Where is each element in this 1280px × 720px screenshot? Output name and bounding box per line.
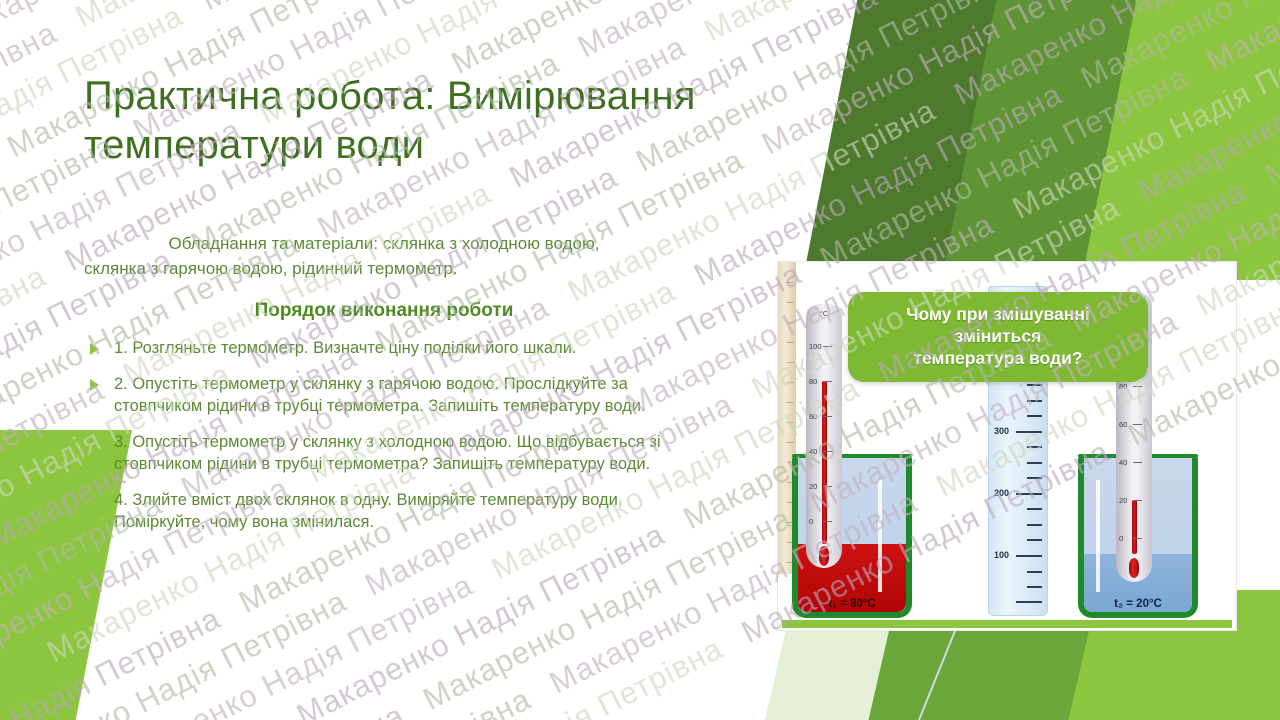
callout-text: Чому при змішуванні зміниться температур… (906, 304, 1090, 369)
illustration-floor-band (782, 620, 1232, 628)
watermark-text: Макаренко Надія Петрівна (1259, 0, 1280, 192)
glass-highlight (1096, 480, 1100, 592)
list-item: 2. Опустіть термометр у склянку з гарячо… (84, 374, 704, 418)
cylinder-tick (1027, 384, 1042, 386)
hot-thermometer: °C 100 80 60 40 20 0 (806, 304, 842, 568)
scale-number: 80 (1119, 382, 1127, 391)
decor-top-right-mid-green (942, 0, 1188, 280)
cylinder-tick (1027, 571, 1042, 573)
procedure-steps-list: 1. Розгляньте термометр. Визначте ціну п… (84, 338, 704, 548)
watermark-text: Макаренко Надія Петрівна (69, 0, 448, 34)
cylinder-tick (1016, 601, 1042, 603)
step-text: 2. Опустіть термометр у склянку з гарячо… (114, 375, 646, 415)
step-text: 3. Опустіть термометр у склянку з холодн… (114, 433, 661, 473)
cylinder-tick (1027, 539, 1042, 541)
scale-number: 20 (1119, 496, 1127, 505)
watermark-text: Макаренко Надія Петрівна (0, 259, 52, 475)
watermark-text: Макаренко Надія Петрівна (572, 0, 951, 64)
watermark-text: Макаренко Надія Петрівна (0, 714, 284, 720)
scale-tick (1133, 386, 1142, 387)
cylinder-scale-number: 100 (994, 550, 1009, 560)
step-text: 1. Розгляньте термометр. Визначте ціну п… (114, 339, 577, 357)
triangle-bullet-icon (90, 437, 99, 449)
glass-highlight (878, 480, 882, 592)
callout-line-2: зміниться (955, 326, 1042, 346)
cylinder-tick (1027, 446, 1042, 448)
triangle-bullet-icon (90, 379, 99, 391)
list-item: 4. Злийте вміст двох склянок в одну. Вим… (84, 490, 704, 534)
question-callout: Чому при змішуванні зміниться температур… (848, 292, 1148, 382)
mercury-column (822, 381, 827, 544)
cylinder-tick (1027, 586, 1042, 588)
cylinder-tick (1027, 415, 1042, 417)
decor-top-right-lime (1082, 0, 1280, 280)
callout-line-3: температура води? (913, 348, 1082, 368)
cold-beaker-label: t₂ = 20°C (1078, 598, 1198, 610)
equipment-line-2: склянка з гарячою водою, рідинний термом… (84, 257, 684, 282)
watermark-text: Макаренко Надія Петрівна (1075, 0, 1280, 95)
watermark-text: Макаренко Надія Петрівна (196, 0, 575, 17)
watermark-text: Макаренко Надія Петрівна (0, 583, 352, 720)
list-item: 3. Опустіть термометр у склянку з холодн… (84, 432, 704, 476)
callout-line-1: Чому при змішуванні (906, 304, 1090, 324)
scale-tick (1133, 538, 1142, 539)
cylinder-tick (1027, 400, 1042, 402)
hot-beaker-label: t₁ = 80°C (792, 598, 912, 610)
cylinder-tick (1027, 477, 1042, 479)
thermometer-bulb (819, 546, 829, 566)
equipment-text: Обладнання та матеріали: склянка з холод… (84, 232, 684, 281)
triangle-bullet-icon (90, 343, 99, 355)
scale-number: 60 (809, 412, 817, 421)
scale-number: 80 (809, 377, 817, 386)
cylinder-tick (1016, 431, 1042, 433)
cylinder-tick (1016, 493, 1042, 495)
scale-tick (823, 521, 832, 522)
equipment-line-1: Обладнання та матеріали: склянка з холод… (169, 234, 600, 253)
cylinder-scale-number: 300 (994, 426, 1009, 436)
cylinder-scale-number: 200 (994, 488, 1009, 498)
step-text: 4. Злийте вміст двох склянок в одну. Вим… (114, 491, 622, 531)
watermark-text: Макаренко Надія Петрівна (0, 0, 323, 50)
watermark-text: Макаренко Надія Петрівна (446, 0, 825, 81)
watermark-text: Макаренко Надія Петрівна (948, 0, 1280, 112)
watermark-text: Макаренко Надія Петрівна (99, 567, 478, 720)
scale-tick (823, 381, 832, 382)
scale-number: 40 (809, 447, 817, 456)
scale-tick (823, 416, 832, 417)
mercury-column (1132, 500, 1137, 554)
scale-number: 20 (809, 482, 817, 491)
scale-tick (823, 451, 832, 452)
slide-canvas: Практична робота: Вимірювання температур… (0, 0, 1280, 720)
thermometer-bulb (1129, 558, 1139, 578)
thermometer-unit-label: °C (806, 311, 842, 318)
cylinder-tick (1027, 524, 1042, 526)
watermark-text: Макаренко Надія Петрівна (698, 0, 1077, 48)
scale-number: 40 (1119, 458, 1127, 467)
scale-tick (823, 346, 832, 347)
watermark-text: Макаренко Надія Петрівна (0, 600, 226, 720)
triangle-bullet-icon (90, 495, 99, 507)
procedure-subheading: Порядок виконання роботи (84, 300, 684, 322)
cylinder-tick (1016, 555, 1042, 557)
watermark-text: Макаренко Надія Петрівна (31, 697, 410, 720)
scale-number: 60 (1119, 420, 1127, 429)
slide-title: Практична робота: Вимірювання температур… (84, 72, 874, 170)
watermark-text: Макаренко Надія Петрівна (0, 14, 62, 230)
cylinder-tick (1027, 462, 1042, 464)
scale-tick (1133, 500, 1142, 501)
scale-number: 100 (809, 342, 822, 351)
scale-tick (1133, 462, 1142, 463)
watermark-text: Макаренко Надія Петрівна (349, 631, 728, 720)
watermark-text: Макаренко Надія Петрівна (1133, 0, 1280, 209)
watermark-text: Макаренко Надія Петрівна (157, 681, 536, 720)
watermark-text: Макаренко Надія Петрівна (1006, 9, 1280, 225)
scale-tick (823, 486, 832, 487)
cylinder-tick (1027, 508, 1042, 510)
watermark-text: Макаренко Надія Петрівна (1201, 0, 1280, 79)
scale-tick (1133, 424, 1142, 425)
scale-number: 0 (1119, 534, 1123, 543)
scale-number: 0 (809, 517, 813, 526)
list-item: 1. Розгляньте термометр. Визначте ціну п… (84, 338, 704, 360)
